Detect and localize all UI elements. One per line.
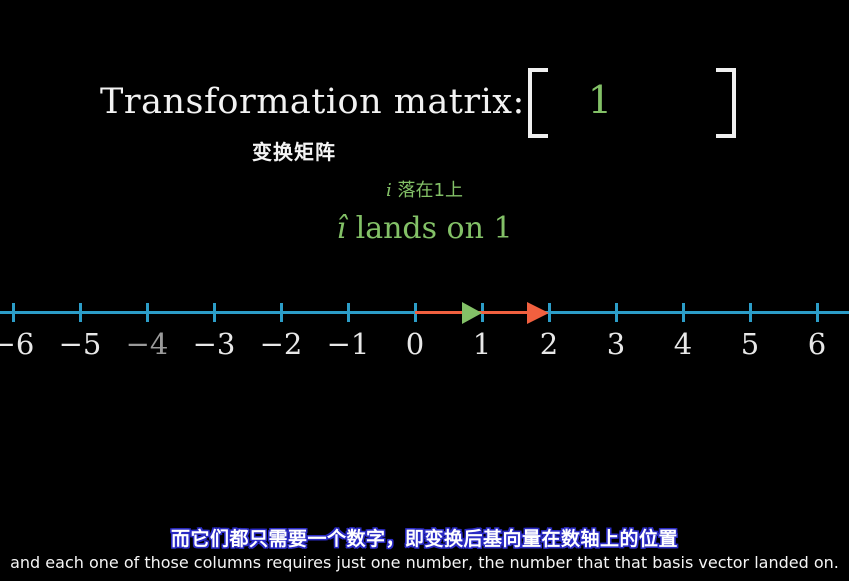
arrowhead-transformed-icon [527,302,549,324]
axis-tick-label: 2 [540,327,558,361]
transformation-matrix: 1 [528,68,736,138]
axis-tick-label: 5 [741,327,759,361]
axis-tick-label: 6 [808,327,826,361]
ihat-annotation-english-text: lands on 1 [346,211,512,246]
page-title: Transformation matrix: [100,82,525,122]
ihat-annotation-chinese-text: 落在1上 [392,180,463,201]
axis-tick [146,303,149,322]
subtitle-english: and each one of those columns requires j… [0,553,849,572]
axis-tick [280,303,283,322]
axis-tick-label: −6 [0,327,34,361]
page-title-chinese: 变换矩阵 [252,136,336,165]
ihat-annotation-english: î lands on 1 [0,211,849,246]
axis-tick-label: 1 [473,327,491,361]
axis-tick-label: −4 [126,327,169,361]
matrix-entry-0: 1 [580,78,620,122]
axis-tick [79,303,82,322]
subtitle-chinese: 而它们都只需要一个数字，即变换后基向量在数轴上的位置 [0,524,849,551]
axis-tick-label: −3 [193,327,236,361]
video-frame: Transformation matrix: 变换矩阵 1 i 落在1上 î l… [0,0,849,581]
matrix-left-bracket-icon [528,68,548,138]
axis-tick [12,303,15,322]
axis-tick [682,303,685,322]
axis-tick-label: 3 [607,327,625,361]
axis-tick-label: −5 [59,327,102,361]
axis-tick [749,303,752,322]
axis-tick-label: 0 [406,327,424,361]
axis-tick [615,303,618,322]
axis-tick-label: 4 [674,327,692,361]
number-line: −6−5−4−3−2−10123456 [0,280,849,370]
axis-tick-label: −1 [327,327,370,361]
ihat-annotation-chinese: i 落在1上 [0,176,849,202]
ihat-symbol-english: î [336,211,346,246]
axis-tick-label: −2 [260,327,303,361]
matrix-right-bracket-icon [716,68,736,138]
arrowhead-i-hat-icon [462,302,482,324]
axis-tick [347,303,350,322]
axis-tick [816,303,819,322]
axis-tick [213,303,216,322]
